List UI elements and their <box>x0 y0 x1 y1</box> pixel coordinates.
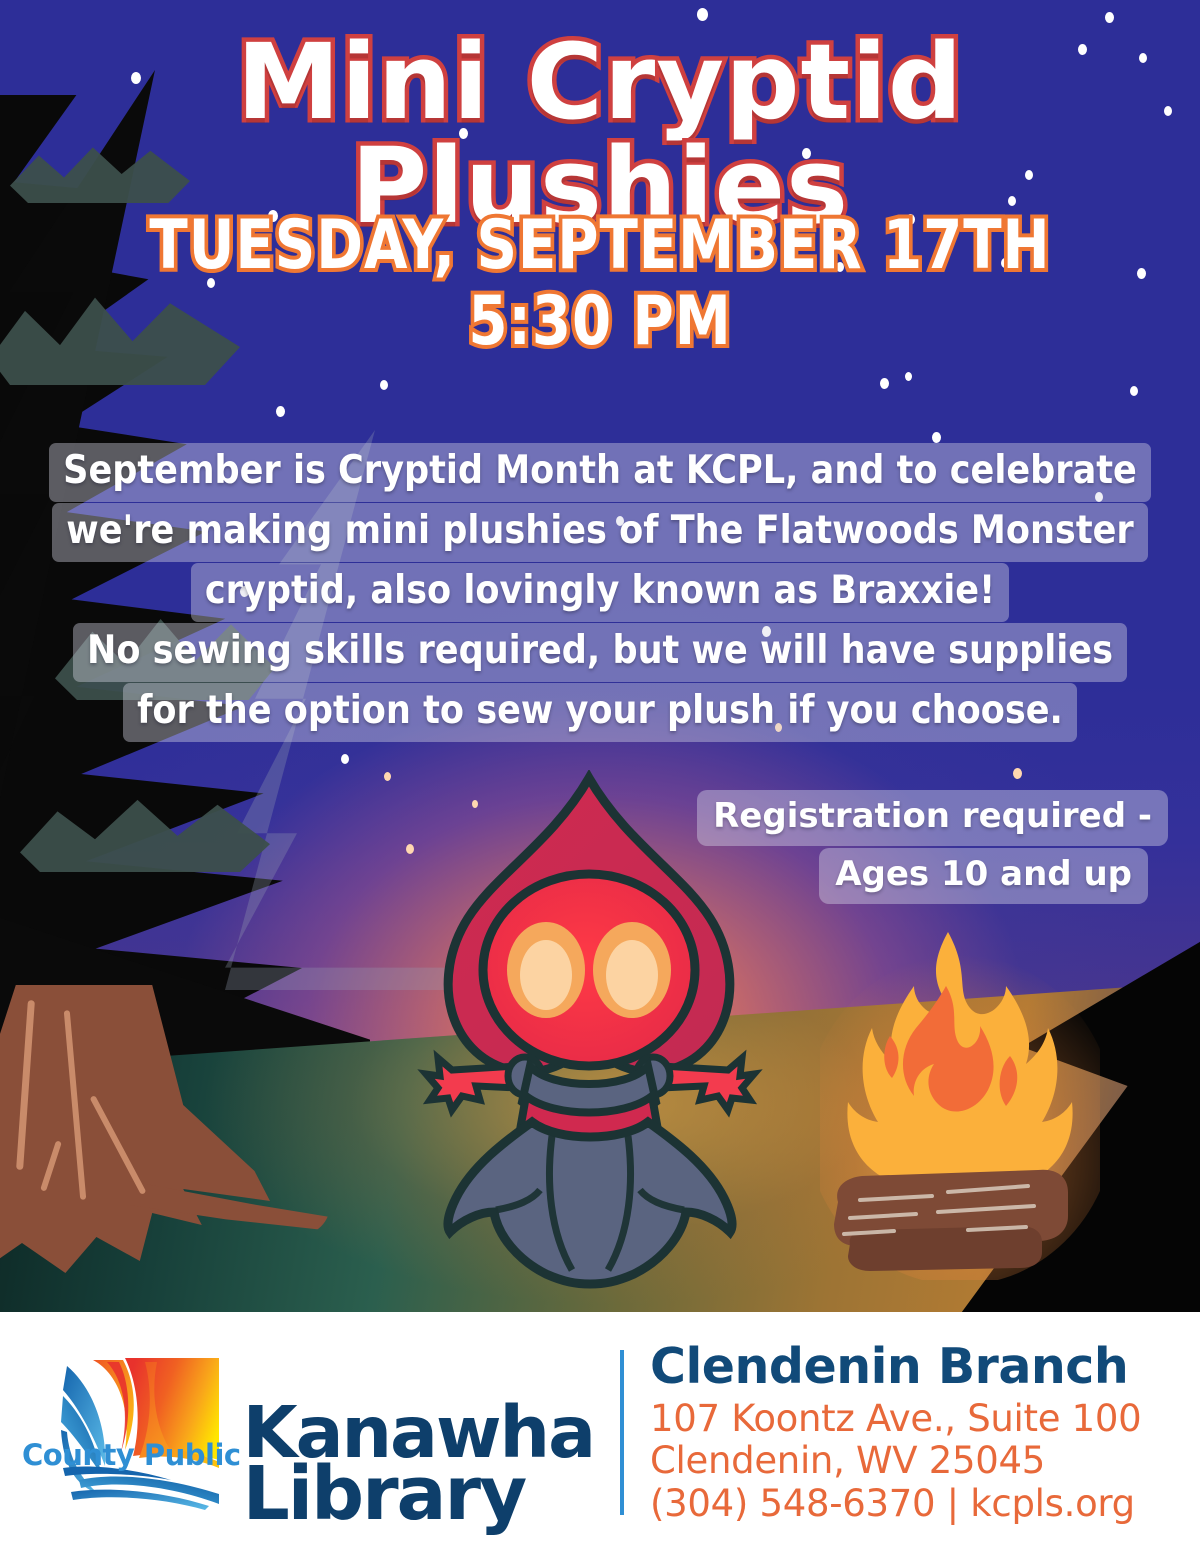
star-warm <box>1013 768 1022 779</box>
description-line: for the option to sew your plush if you … <box>123 683 1077 742</box>
star <box>697 8 708 21</box>
logo-library: Library <box>243 1463 526 1527</box>
footer-bar: Kanawha Library County Public Clendenin … <box>0 1312 1200 1553</box>
open-book-fan-logo-icon <box>59 1352 229 1512</box>
star <box>1105 12 1114 23</box>
star <box>276 406 285 417</box>
star <box>932 432 941 443</box>
description-line: we're making mini plushies of The Flatwo… <box>52 503 1147 562</box>
star-warm <box>384 772 391 781</box>
branch-contact-line: (304) 548-6370 | kcpls.org <box>650 1483 1141 1526</box>
event-datetime: TUESDAY, SEPTEMBER 17TH 5:30 PM <box>48 208 1152 360</box>
branch-address-line: 107 Koontz Ave., Suite 100 <box>650 1398 1141 1441</box>
branch-info: Clendenin Branch 107 Koontz Ave., Suite … <box>650 1339 1141 1527</box>
event-time: 5:30 PM <box>48 284 1152 360</box>
branch-name: Clendenin Branch <box>650 1339 1141 1396</box>
registration-line: Ages 10 and up <box>819 848 1148 904</box>
description-line: cryptid, also lovingly known as Braxxie! <box>191 563 1009 622</box>
description-line: September is Cryptid Month at KCPL, and … <box>49 443 1151 502</box>
event-date: TUESDAY, SEPTEMBER 17TH <box>149 206 1050 285</box>
star <box>341 754 349 764</box>
description-line: No sewing skills required, but we will h… <box>73 623 1127 682</box>
footer-divider <box>620 1350 624 1515</box>
braxxie-robe <box>448 1122 732 1284</box>
star <box>880 378 889 389</box>
event-description: September is Cryptid Month at KCPL, and … <box>0 443 1200 743</box>
footer-content: Kanawha Library County Public Clendenin … <box>59 1339 1142 1527</box>
star <box>380 380 388 390</box>
library-logo-wordmark: Kanawha Library County Public <box>243 1402 594 1463</box>
branch-address-line: Clendenin, WV 25045 <box>650 1440 1141 1483</box>
star <box>905 372 912 381</box>
logo-county-public: County Public <box>22 1443 241 1468</box>
library-logo: Kanawha Library County Public <box>59 1352 594 1512</box>
registration-notice: Registration required - Ages 10 and up <box>697 790 1168 906</box>
poster-root: Mini Cryptid Plushies TUESDAY, SEPTEMBER… <box>0 0 1200 1553</box>
star <box>1130 386 1138 396</box>
campfire <box>820 900 1100 1280</box>
campfire-logs <box>834 1170 1068 1271</box>
registration-line: Registration required - <box>697 790 1168 846</box>
